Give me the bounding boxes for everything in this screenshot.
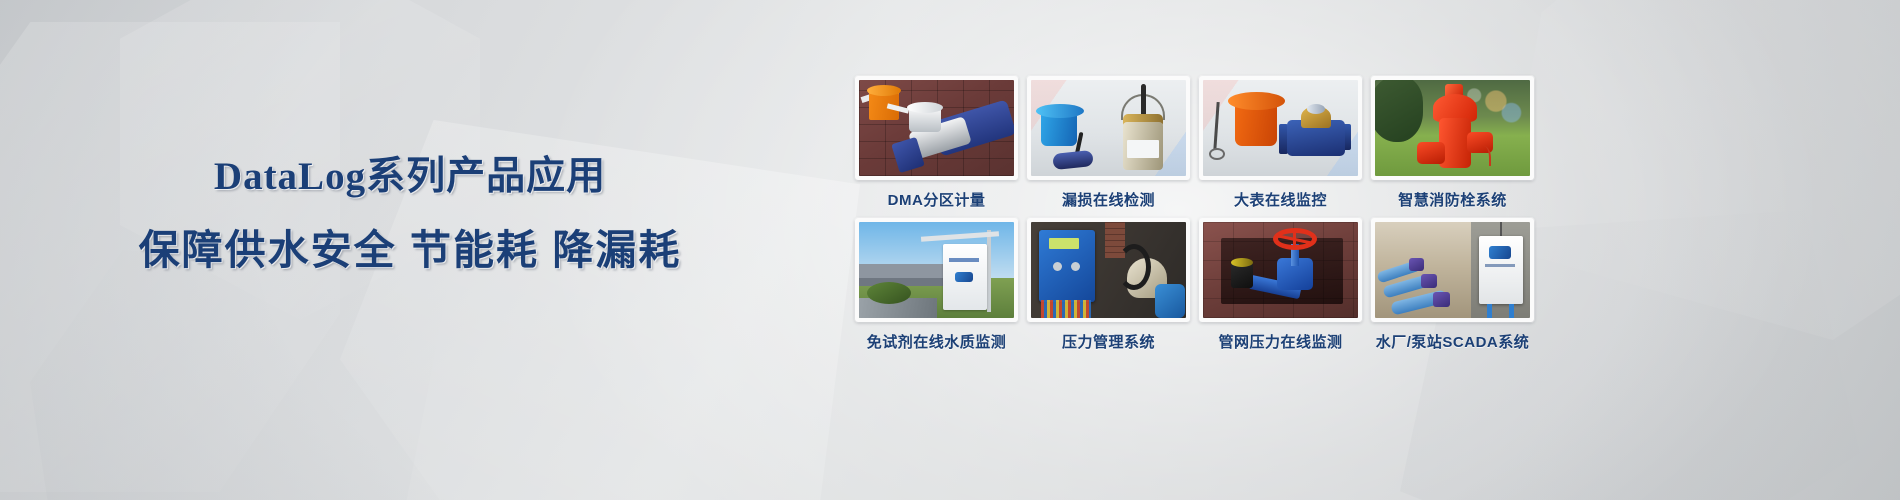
headline-line-secondary: 保障供水安全 节能耗 降漏耗 xyxy=(0,218,820,282)
product-card-network-pressure-monitoring[interactable]: 管网压力在线监测 xyxy=(1199,218,1362,352)
product-thumbnail-frame[interactable] xyxy=(1199,76,1362,180)
product-card-smart-hydrant[interactable]: 智慧消防栓系统 xyxy=(1371,76,1534,210)
headline-line-primary: DataLog系列产品应用 xyxy=(0,148,820,206)
product-card-leak-detection[interactable]: 漏损在线检测 xyxy=(1027,76,1190,210)
product-card-pressure-management[interactable]: 压力管理系统 xyxy=(1027,218,1190,352)
product-image-bulk-meter-monitoring xyxy=(1203,80,1358,176)
product-card-scada-system[interactable]: 水厂/泵站SCADA系统 xyxy=(1371,218,1534,352)
background-polygon-shape xyxy=(1500,0,1900,340)
product-thumbnail-frame[interactable] xyxy=(1199,218,1362,322)
product-card-dma-metering[interactable]: DMA分区计量 xyxy=(855,76,1018,210)
product-thumbnail-frame[interactable] xyxy=(855,76,1018,180)
product-thumbnail-frame[interactable] xyxy=(855,218,1018,322)
product-thumbnail-frame[interactable] xyxy=(1371,218,1534,322)
banner-headline: DataLog系列产品应用 保障供水安全 节能耗 降漏耗 xyxy=(0,148,820,282)
product-application-banner: DataLog系列产品应用 保障供水安全 节能耗 降漏耗 DMA分区计量 xyxy=(0,0,1900,500)
product-label: DMA分区计量 xyxy=(855,189,1018,210)
product-image-leak-detection xyxy=(1031,80,1186,176)
background-polygon-shape xyxy=(30,250,450,500)
product-card-water-quality-monitoring[interactable]: 免试剂在线水质监测 xyxy=(855,218,1018,352)
product-label: 漏损在线检测 xyxy=(1027,189,1190,210)
product-thumbnail-frame[interactable] xyxy=(1371,76,1534,180)
product-application-grid: DMA分区计量 漏损在线检测 xyxy=(855,76,1555,352)
product-thumbnail-frame[interactable] xyxy=(1027,76,1190,180)
product-image-scada-system xyxy=(1375,222,1530,318)
product-image-network-pressure-monitoring xyxy=(1203,222,1358,318)
product-image-pressure-management xyxy=(1031,222,1186,318)
product-label: 智慧消防栓系统 xyxy=(1371,189,1534,210)
product-label: 免试剂在线水质监测 xyxy=(855,331,1018,352)
product-label: 管网压力在线监测 xyxy=(1199,331,1362,352)
product-label: 压力管理系统 xyxy=(1027,331,1190,352)
product-image-water-quality-monitoring xyxy=(859,222,1014,318)
product-label: 水厂/泵站SCADA系统 xyxy=(1371,331,1534,352)
product-image-smart-hydrant xyxy=(1375,80,1530,176)
product-image-dma-metering xyxy=(859,80,1014,176)
product-label: 大表在线监控 xyxy=(1199,189,1362,210)
product-card-bulk-meter-monitoring[interactable]: 大表在线监控 xyxy=(1199,76,1362,210)
product-thumbnail-frame[interactable] xyxy=(1027,218,1190,322)
